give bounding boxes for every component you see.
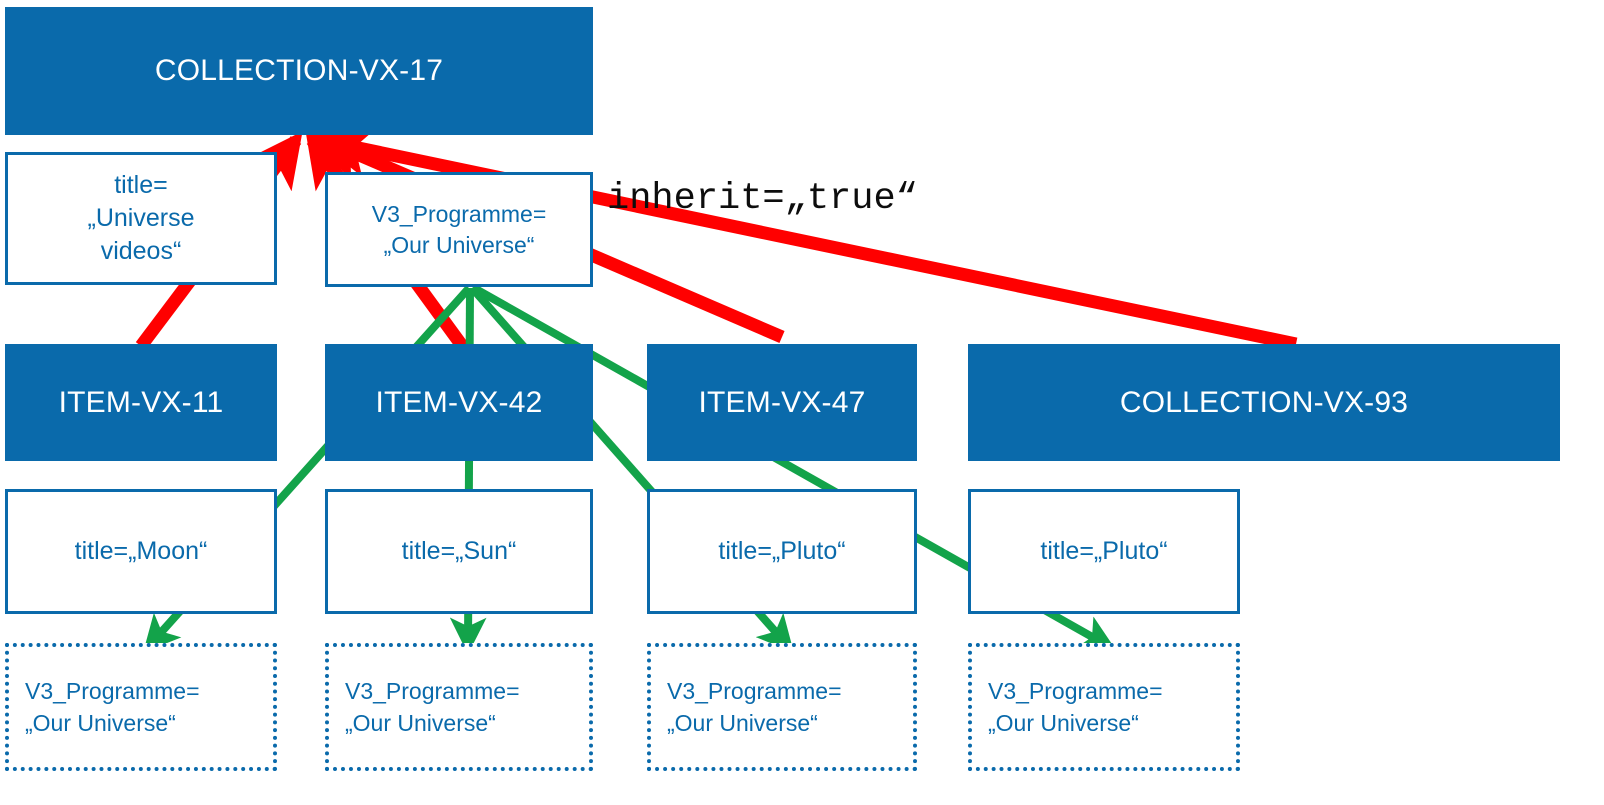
attribute-text: title=„Pluto“ bbox=[718, 535, 845, 568]
entity-item-vx-42[interactable]: ITEM-VX-42 bbox=[325, 344, 593, 461]
inherit-annotation: inherit=„true“ bbox=[607, 178, 918, 220]
attribute-universe-videos[interactable]: title= „Universe videos“ bbox=[5, 152, 277, 285]
attribute-title-pluto-item-47[interactable]: title=„Pluto“ bbox=[647, 489, 917, 614]
attribute-title-moon[interactable]: title=„Moon“ bbox=[5, 489, 277, 614]
attribute-text: title=„Pluto“ bbox=[1040, 535, 1167, 568]
attribute-title-pluto-collection-93[interactable]: title=„Pluto“ bbox=[968, 489, 1240, 614]
entity-collection-vx-17[interactable]: COLLECTION-VX-17 bbox=[5, 7, 593, 135]
inherited-attribute-text: V3_Programme= „Our Universe“ bbox=[667, 675, 842, 739]
entity-label: ITEM-VX-42 bbox=[375, 386, 542, 420]
entity-label: COLLECTION-VX-17 bbox=[155, 54, 443, 88]
inherited-attribute-item-vx-47[interactable]: V3_Programme= „Our Universe“ bbox=[647, 643, 917, 771]
propagation-edges bbox=[148, 288, 1110, 647]
entity-collection-vx-93[interactable]: COLLECTION-VX-93 bbox=[968, 344, 1560, 461]
inherited-attribute-text: V3_Programme= „Our Universe“ bbox=[988, 675, 1163, 739]
inherit-edges bbox=[141, 139, 1296, 347]
entity-label: ITEM-VX-47 bbox=[698, 386, 865, 420]
attribute-text: V3_Programme= „Our Universe“ bbox=[372, 199, 547, 260]
entity-label: ITEM-VX-11 bbox=[59, 386, 224, 420]
attribute-text: title=„Moon“ bbox=[75, 535, 208, 568]
attribute-text: title= „Universe videos“ bbox=[88, 169, 195, 268]
attribute-text: title=„Sun“ bbox=[402, 535, 517, 568]
diagram-canvas: COLLECTION-VX-17 title= „Universe videos… bbox=[0, 0, 1604, 805]
inherited-attribute-item-vx-42[interactable]: V3_Programme= „Our Universe“ bbox=[325, 643, 593, 771]
entity-item-vx-11[interactable]: ITEM-VX-11 bbox=[5, 344, 277, 461]
inherited-attribute-text: V3_Programme= „Our Universe“ bbox=[345, 675, 520, 739]
attribute-v3-programme-root[interactable]: V3_Programme= „Our Universe“ bbox=[325, 172, 593, 287]
entity-item-vx-47[interactable]: ITEM-VX-47 bbox=[647, 344, 917, 461]
inherited-attribute-text: V3_Programme= „Our Universe“ bbox=[25, 675, 200, 739]
inherited-attribute-item-vx-11[interactable]: V3_Programme= „Our Universe“ bbox=[5, 643, 277, 771]
attribute-title-sun[interactable]: title=„Sun“ bbox=[325, 489, 593, 614]
entity-label: COLLECTION-VX-93 bbox=[1120, 386, 1408, 420]
inherited-attribute-collection-vx-93[interactable]: V3_Programme= „Our Universe“ bbox=[968, 643, 1240, 771]
